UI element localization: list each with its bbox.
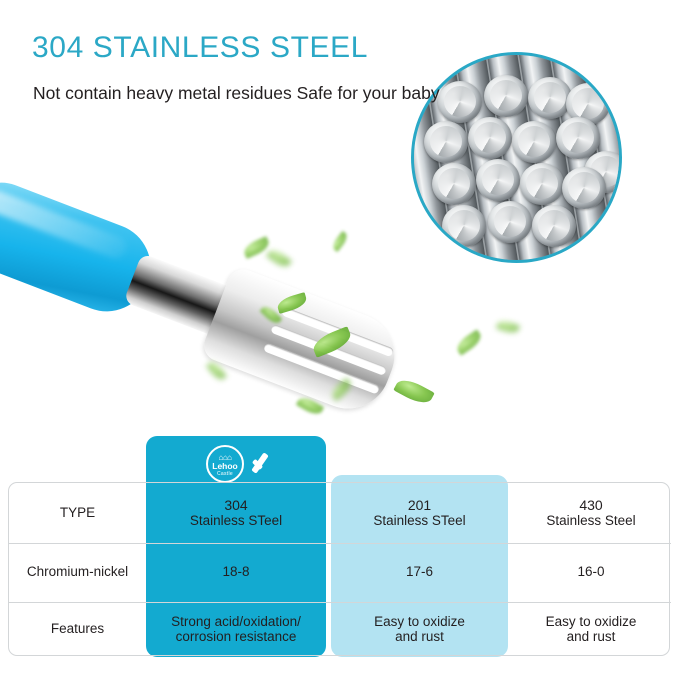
row-label-text: TYPE xyxy=(60,505,95,520)
steel-rod-end xyxy=(562,167,606,209)
cell-line1: 17-6 xyxy=(406,564,433,579)
steel-rod-end xyxy=(520,163,564,205)
cell-line1: 201 xyxy=(373,498,465,513)
cell-line2: Stainless STeel xyxy=(190,513,282,528)
steel-rod-end xyxy=(488,201,532,243)
leaf-icon xyxy=(330,231,349,252)
table-row-label: Chromium-nickel xyxy=(9,542,146,601)
lehoo-castle-logo: ⌂⌂⌂ Lehoo Castle xyxy=(206,445,244,483)
table-row-label: TYPE xyxy=(9,483,146,542)
cell-line2: Stainless Steel xyxy=(546,513,635,528)
steel-rod-end xyxy=(476,159,520,201)
cell-line2: and rust xyxy=(374,629,465,644)
cell-line1: Easy to oxidize xyxy=(546,614,637,629)
table-cell: 201 Stainless STeel xyxy=(331,483,508,542)
steel-rod-end xyxy=(424,121,468,163)
page-subtitle-line2: Safe for your baby xyxy=(297,83,440,103)
table-cell: 304 Stainless STeel xyxy=(146,483,326,542)
table-cell: Strong acid/oxidation/ corrosion resista… xyxy=(146,601,326,656)
fork-illustration xyxy=(0,155,416,430)
check-icon xyxy=(249,449,279,479)
steel-rods-photo xyxy=(411,52,622,263)
steel-rod-end xyxy=(512,121,556,163)
page-subtitle: Not contain heavy metal residues Safe fo… xyxy=(33,82,440,105)
cell-line1: 304 xyxy=(190,498,282,513)
table-cell: Easy to oxidize and rust xyxy=(513,601,669,656)
steel-rod-end xyxy=(484,75,528,117)
leaf-icon xyxy=(393,375,435,408)
leaf-icon xyxy=(496,319,520,335)
cell-line1: 18-8 xyxy=(222,564,249,579)
badge-brand-sub: Castle xyxy=(217,471,233,477)
table-cell: 17-6 xyxy=(331,542,508,601)
table-cell: Easy to oxidize and rust xyxy=(331,601,508,656)
leaf-icon xyxy=(454,329,484,355)
brand-badge: ⌂⌂⌂ Lehoo Castle xyxy=(206,444,290,484)
cell-line1: Strong acid/oxidation/ xyxy=(171,614,301,629)
page-subtitle-line1: Not contain heavy metal residues xyxy=(33,83,292,103)
cell-line2: corrosion resistance xyxy=(171,629,301,644)
table-cell: 18-8 xyxy=(146,542,326,601)
table-cell: 430 Stainless Steel xyxy=(513,483,669,542)
steel-rod-end xyxy=(532,205,576,247)
steel-rod-end xyxy=(438,81,482,123)
cell-line1: Easy to oxidize xyxy=(374,614,465,629)
steel-rod-end xyxy=(442,205,486,247)
cell-line1: 16-0 xyxy=(577,564,604,579)
row-label-text: Chromium-nickel xyxy=(27,564,128,579)
product-infographic: 304 STAINLESS STEEL Not contain heavy me… xyxy=(0,0,679,679)
cell-line1: 430 xyxy=(546,498,635,513)
cell-line2: Stainless STeel xyxy=(373,513,465,528)
steel-rod-end xyxy=(528,77,572,119)
steel-rod-end xyxy=(432,163,476,205)
table-cell: 16-0 xyxy=(513,542,669,601)
steel-rod-end xyxy=(556,117,600,159)
cell-line2: and rust xyxy=(546,629,637,644)
table-row-label: Features xyxy=(9,601,146,656)
badge-brand-name: Lehoo xyxy=(212,462,238,471)
page-title: 304 STAINLESS STEEL xyxy=(32,31,368,65)
row-label-text: Features xyxy=(51,621,104,636)
steel-rod-end xyxy=(468,117,512,159)
